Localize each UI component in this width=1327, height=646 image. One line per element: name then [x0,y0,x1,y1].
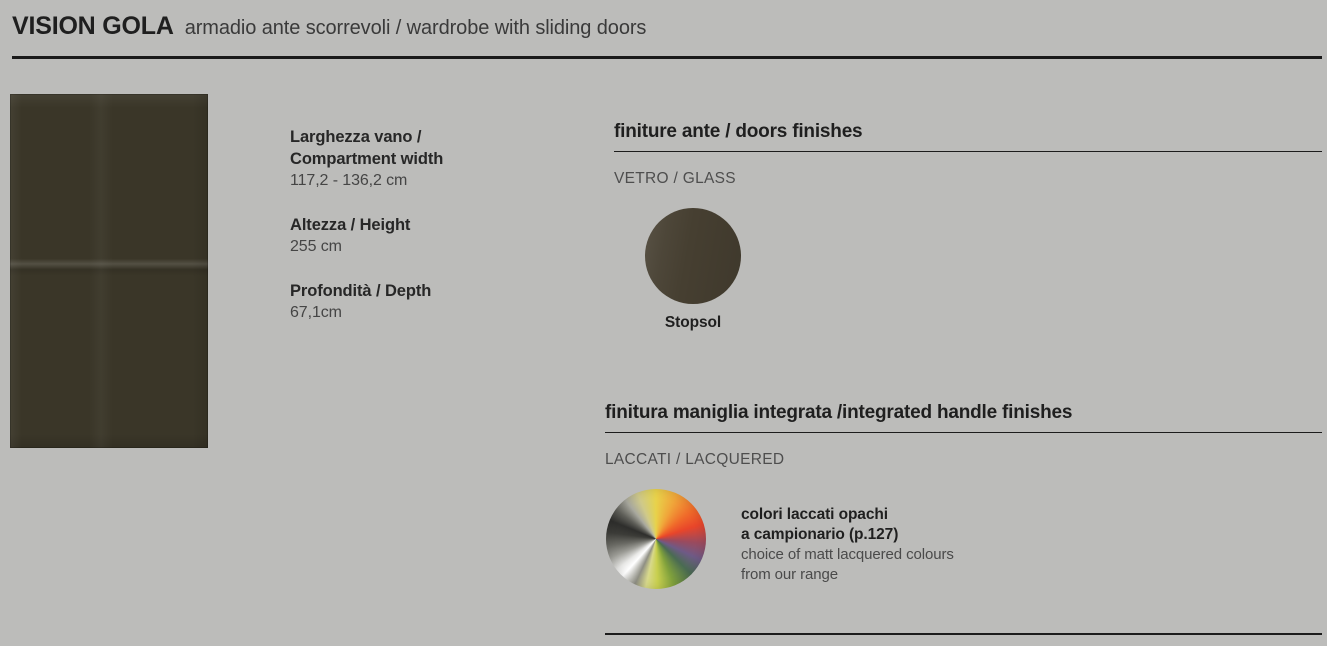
page-title-main: VISION GOLA [12,12,174,41]
doors-finishes-subtitle: VETRO / GLASS [614,170,1322,188]
lacquer-description: colori laccati opachi a campionario (p.1… [741,505,954,585]
doors-finishes-section: finiture ante / doors finishes VETRO / G… [614,120,1322,332]
glass-swatch-group[interactable]: Stopsol [628,208,758,332]
header-divider [12,56,1322,59]
dimension-value: 117,2 - 136,2 cm [290,170,550,192]
lacquer-text-plain-line1: choice of matt lacquered colours [741,545,954,565]
dimension-label-line1: Altezza / Height [290,214,550,236]
dimensions-list: Larghezza vano / Compartment width 117,2… [290,126,550,324]
handle-finishes-section: finitura maniglia integrata /integrated … [605,401,1322,589]
handle-finishes-subtitle: LACCATI / LACQUERED [605,451,1322,469]
dimension-label-line1: Profondità / Depth [290,280,550,302]
lacquer-text-plain-line2: from our range [741,565,954,585]
page-title-subtitle: armadio ante scorrevoli / wardrobe with … [185,17,647,40]
lacquer-swatch-row: colori laccati opachi a campionario (p.1… [605,489,1322,589]
glass-swatch-stopsol[interactable] [645,208,741,304]
dimension-label-line1: Larghezza vano / [290,126,550,148]
dimension-value: 255 cm [290,236,550,258]
glass-swatch-label: Stopsol [628,314,758,332]
dimension-label-line2: Compartment width [290,148,550,170]
wardrobe-product-image [10,94,208,448]
doors-finishes-title: finiture ante / doors finishes [614,120,1322,144]
dimension-item-depth: Profondità / Depth 67,1cm [290,280,550,324]
doors-finishes-divider [614,151,1322,152]
lacquer-text-bold-line1: colori laccati opachi [741,505,954,525]
colour-wheel-swatch[interactable] [606,489,706,589]
lacquer-text-bold-line2: a campionario (p.127) [741,525,954,545]
handle-finishes-divider [605,432,1322,433]
dimension-item-width: Larghezza vano / Compartment width 117,2… [290,126,550,192]
dimension-item-height: Altezza / Height 255 cm [290,214,550,258]
handle-finishes-title: finitura maniglia integrata /integrated … [605,401,1322,425]
page-title: VISION GOLA armadio ante scorrevoli / wa… [12,12,646,41]
footer-divider [605,633,1322,635]
dimension-value: 67,1cm [290,302,550,324]
